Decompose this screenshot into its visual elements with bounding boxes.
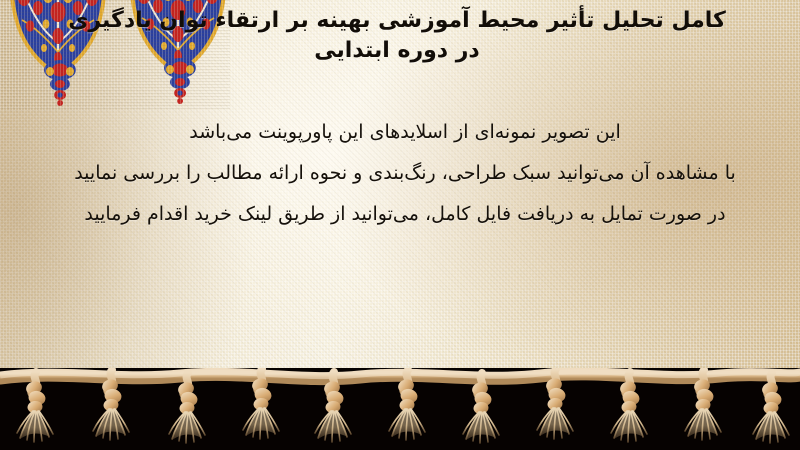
slide-title-line-2: در دوره ابتدایی [12,36,782,66]
slide-body: این تصویر نمونه‌ای از اسلایدهای این پاور… [10,112,800,235]
presentation-slide: کامل تحلیل تأثیر محیط آموزشی بهینه بر ار… [0,0,800,450]
slide-body-line-2: با مشاهده آن می‌توانید سبک طراحی، رنگ‌بن… [10,153,800,194]
carpet-fringe [0,368,800,450]
slide-body-line-3: در صورت تمایل به دریافت فایل کامل، می‌تو… [10,194,800,235]
slide-title-line-1: کامل تحلیل تأثیر محیط آموزشی بهینه بر ار… [12,6,782,36]
slide-title: کامل تحلیل تأثیر محیط آموزشی بهینه بر ار… [12,6,782,66]
slide-text-layer: کامل تحلیل تأثیر محیط آموزشی بهینه بر ار… [0,0,800,378]
slide-body-line-1: این تصویر نمونه‌ای از اسلایدهای این پاور… [10,112,800,153]
